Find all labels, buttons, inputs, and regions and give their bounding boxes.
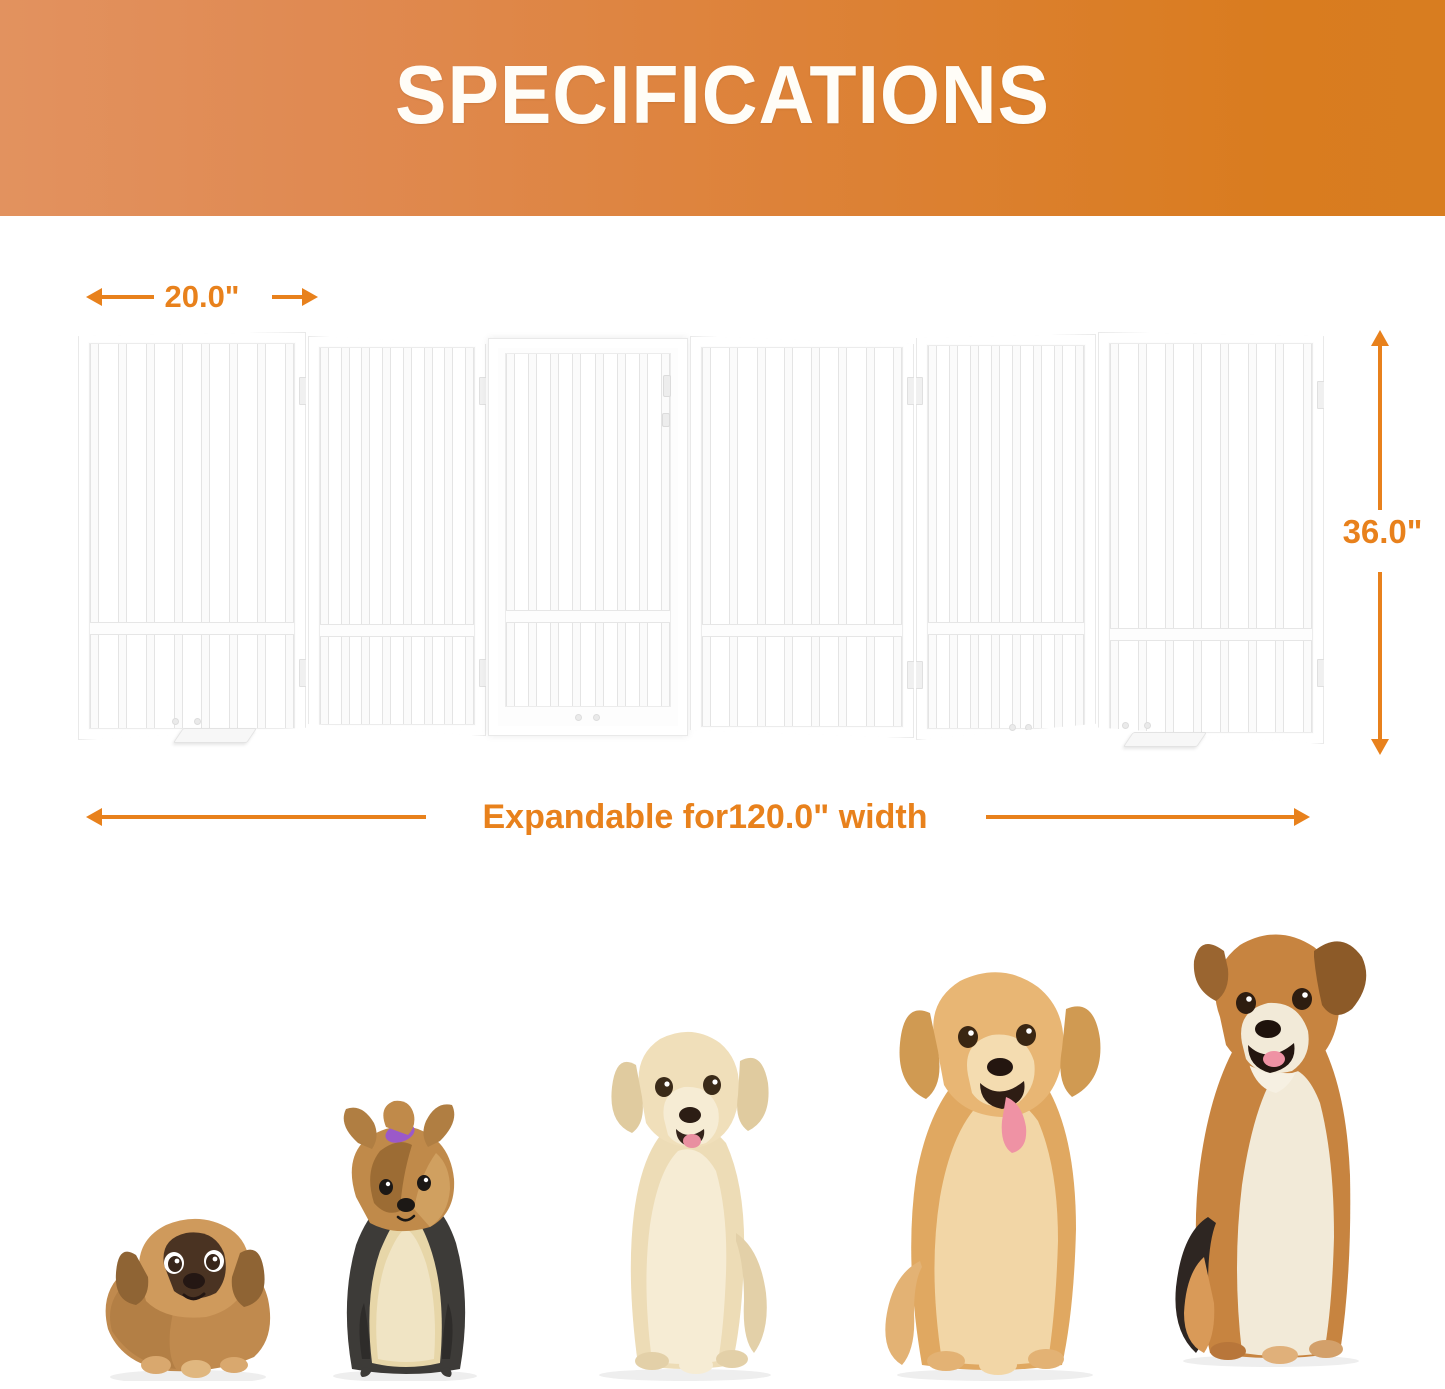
panel-height-label: 36.0" <box>1320 512 1445 552</box>
slat <box>1303 344 1312 732</box>
slat <box>1165 344 1174 732</box>
slat <box>702 348 711 726</box>
slat <box>1275 344 1284 732</box>
slat <box>970 346 979 728</box>
hinge-icon <box>914 377 923 405</box>
screw-icon <box>1009 724 1016 731</box>
screw-icon <box>172 718 179 725</box>
door-frame <box>505 353 671 707</box>
panel-frame <box>927 345 1085 729</box>
slat <box>1054 346 1063 728</box>
hinge-icon <box>907 377 916 405</box>
dog-yellow-labrador <box>560 1001 810 1381</box>
slat <box>617 354 626 706</box>
hinge-icon <box>914 661 923 689</box>
slat <box>661 354 670 706</box>
slat <box>1220 344 1229 732</box>
panel-slats <box>1110 344 1312 732</box>
hinge-icon <box>479 659 488 687</box>
gate-panel-1 <box>78 332 306 740</box>
slat <box>949 346 958 728</box>
panel-slats <box>506 354 670 706</box>
slat <box>595 354 604 706</box>
slat <box>444 348 453 724</box>
arrow-right-icon <box>302 288 318 306</box>
slat <box>893 348 902 726</box>
measure-line-top <box>1378 344 1382 510</box>
panel-crossbar <box>702 624 902 637</box>
slat <box>1110 344 1119 732</box>
panel-frame <box>89 343 295 729</box>
slat <box>1012 346 1021 728</box>
slat <box>465 348 474 724</box>
yellow-labrador-illustration <box>560 1001 810 1381</box>
slat <box>866 348 875 726</box>
slat <box>285 344 294 728</box>
panel-crossbar <box>506 610 670 623</box>
slat <box>382 348 391 724</box>
dog-golden-retriever <box>860 961 1130 1381</box>
slat <box>403 348 412 724</box>
pekingese-illustration <box>78 1181 298 1381</box>
support-foot-right <box>1123 732 1207 747</box>
hinge-icon <box>479 377 488 405</box>
gate-panel-6 <box>1098 332 1324 744</box>
expandable-width-label: Expandable for120.0" width <box>426 795 984 839</box>
hinge-icon <box>1317 381 1326 409</box>
page-title: SPECIFICATIONS <box>51 53 1395 136</box>
panel-slats <box>90 344 294 728</box>
slat <box>811 348 820 726</box>
gate-panel-3-door[interactable] <box>488 338 688 736</box>
slat <box>257 344 266 728</box>
slat <box>757 348 766 726</box>
hinge-icon <box>299 377 308 405</box>
panel-slats <box>928 346 1084 728</box>
measure-line-left <box>100 815 430 819</box>
slat <box>229 344 238 728</box>
gate-panel-5 <box>916 334 1096 740</box>
measure-line-right <box>986 815 1296 819</box>
yorkshire-terrier-illustration <box>300 1091 510 1381</box>
dog-pekingese <box>78 1181 298 1381</box>
screw-icon <box>593 714 600 721</box>
slat <box>118 344 127 728</box>
slat <box>928 346 937 728</box>
slat <box>528 354 537 706</box>
arrow-right-icon <box>1294 808 1310 826</box>
header-banner: SPECIFICATIONS <box>0 0 1445 216</box>
door-latch-icon[interactable] <box>663 375 671 397</box>
panel-crossbar <box>1110 628 1312 641</box>
golden-retriever-illustration <box>860 961 1130 1381</box>
dog-size-comparison <box>0 880 1445 1389</box>
slat <box>174 344 183 728</box>
arrow-down-icon <box>1371 739 1389 755</box>
slat <box>201 344 210 728</box>
slat <box>1138 344 1147 732</box>
slat <box>572 354 581 706</box>
dog-yorkshire-terrier <box>300 1091 510 1381</box>
hinge-icon <box>299 659 308 687</box>
measure-line-bottom <box>1378 572 1382 739</box>
slat <box>146 344 155 728</box>
slat <box>341 348 350 724</box>
panel-crossbar <box>320 624 474 637</box>
door-latch-pin-icon[interactable] <box>662 413 670 427</box>
slat <box>1033 346 1042 728</box>
slat <box>784 348 793 726</box>
panel-crossbar <box>928 622 1084 635</box>
screw-icon <box>575 714 582 721</box>
slat <box>424 348 433 724</box>
slat <box>506 354 515 706</box>
screw-icon <box>1144 722 1151 729</box>
gate-panel-4 <box>690 336 914 738</box>
slat <box>1193 344 1202 732</box>
panel-frame <box>701 347 903 727</box>
dog-shepherd-mix <box>1146 917 1396 1367</box>
screw-icon <box>1025 724 1032 731</box>
panel-width-measurement: 20.0" <box>86 277 318 317</box>
expandable-width-measurement: Expandable for120.0" width <box>86 795 1324 839</box>
hinge-icon <box>1317 659 1326 687</box>
slat <box>1248 344 1257 732</box>
slat <box>1075 346 1084 728</box>
slat <box>729 348 738 726</box>
support-foot-left <box>173 728 257 743</box>
panel-crossbar <box>90 622 294 635</box>
screw-icon <box>194 718 201 725</box>
measure-line-right <box>272 295 304 299</box>
panel-frame <box>1109 343 1313 733</box>
shepherd-mix-illustration <box>1146 917 1396 1367</box>
slat <box>320 348 329 724</box>
screw-icon <box>1122 722 1129 729</box>
panel-frame <box>319 347 475 725</box>
slat <box>991 346 1000 728</box>
slat <box>550 354 559 706</box>
slat <box>639 354 648 706</box>
hinge-icon <box>907 661 916 689</box>
slat <box>361 348 370 724</box>
slat <box>838 348 847 726</box>
panel-slats <box>702 348 902 726</box>
pet-gate-illustration <box>70 332 1330 762</box>
panel-slats <box>320 348 474 724</box>
slat <box>90 344 99 728</box>
panel-height-measurement: 36.0" <box>1330 330 1440 755</box>
gate-panel-2 <box>308 336 486 736</box>
